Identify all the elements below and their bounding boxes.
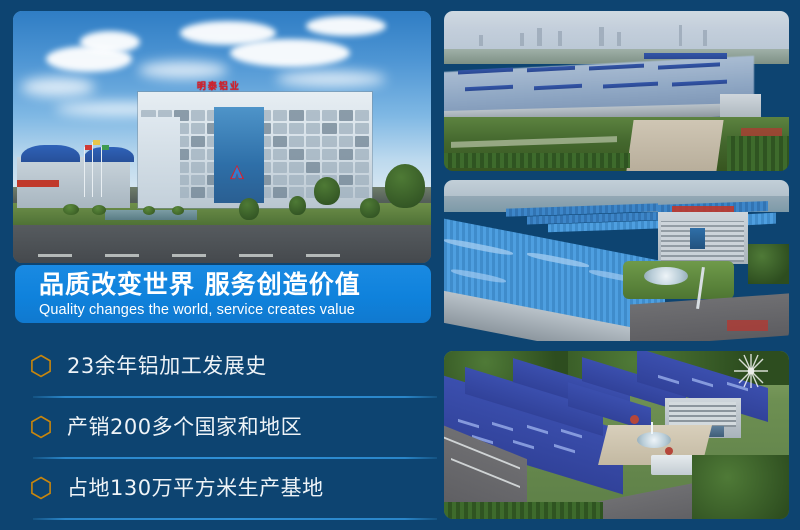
- cloud-shape: [230, 39, 350, 67]
- office-window-bands: [669, 402, 736, 427]
- feature-label: 23余年铝加工发展史: [67, 349, 267, 383]
- tree-row: [727, 136, 789, 171]
- flag-shape: [102, 145, 109, 150]
- tree-cluster: [748, 244, 789, 284]
- feature-item-1[interactable]: 23余年铝加工发展史: [15, 337, 431, 398]
- distant-skyline: [444, 27, 789, 46]
- aerial-factory-blue-roof-photo: [444, 180, 789, 341]
- tree-shape: [289, 196, 306, 215]
- shrub-shape: [172, 206, 184, 215]
- hexagon-icon: [28, 475, 54, 501]
- ornamental-tree: [665, 447, 673, 455]
- slogan-chinese: 品质改变世界 服务创造价值: [39, 270, 431, 300]
- feature-item-2[interactable]: 产销200多个国家和地区: [15, 398, 431, 459]
- cloud-shape: [21, 77, 95, 97]
- blue-roof-shape: [21, 145, 80, 163]
- hexagon-icon: [28, 353, 54, 379]
- road-marking: [105, 254, 139, 257]
- roof-blue-strip: [644, 53, 727, 59]
- feature-label: 占地130万平方米生产基地: [67, 471, 324, 505]
- feature-item-3[interactable]: 占地130万平方米生产基地: [15, 459, 431, 520]
- roof-sign-text: 明泰铝业: [197, 79, 241, 92]
- feature-divider: [33, 518, 437, 520]
- tree-row: [444, 153, 630, 167]
- feature-label: 产销200多个国家和地区: [67, 410, 302, 444]
- tree-row: [444, 502, 603, 519]
- road-marking: [306, 254, 340, 257]
- glass-atrium: [214, 107, 264, 203]
- left-column: 明泰铝业 品质改变世界 服务创造价值 Quality changes the w…: [13, 11, 431, 519]
- flag-pole: [92, 142, 93, 197]
- red-sign-band: [17, 180, 59, 188]
- company-a-logo-icon: [228, 164, 246, 180]
- page-root: 明泰铝业 品质改变世界 服务创造价值 Quality changes the w…: [0, 0, 800, 530]
- building-left-wing: [138, 117, 180, 208]
- shrub-shape: [143, 206, 155, 215]
- fountain-jet: [651, 422, 653, 434]
- flag-shape: [85, 145, 92, 150]
- road-strip: [13, 225, 431, 263]
- road-marking: [239, 254, 273, 257]
- cloud-shape: [80, 31, 140, 53]
- road-marking: [172, 254, 206, 257]
- aerial-factory-wide-photo: [444, 11, 789, 171]
- slogan-english: Quality changes the world, service creat…: [39, 300, 431, 320]
- tree-row: [692, 455, 789, 519]
- office-building-photo: 明泰铝业: [13, 11, 431, 263]
- tree-shape: [239, 198, 259, 220]
- fountain-shape: [644, 267, 688, 285]
- fountain-shape: [637, 432, 671, 448]
- roof-sign-band: [672, 206, 734, 212]
- feature-list: 23余年铝加工发展史 产销200多个国家和地区 占地130万平方米生产基地: [15, 337, 431, 520]
- cloud-shape: [306, 16, 386, 36]
- tree-shape: [385, 164, 425, 208]
- flag-pole: [101, 147, 102, 197]
- tree-shape: [314, 177, 340, 205]
- flag-shape: [93, 140, 100, 145]
- industrial-park-render: [444, 351, 789, 519]
- hexagon-icon: [28, 414, 54, 440]
- tree-shape: [360, 198, 380, 218]
- office-tower: [658, 212, 748, 264]
- flag-pole: [84, 147, 85, 197]
- parked-vehicles: [741, 128, 782, 136]
- slogan-banner: 品质改变世界 服务创造价值 Quality changes the world,…: [15, 265, 431, 323]
- sun-flare-icon: [734, 354, 768, 388]
- road-marking: [38, 254, 72, 257]
- parked-vehicles: [727, 320, 768, 331]
- yard-pavement: [627, 120, 724, 171]
- tower-glass-atrium: [690, 228, 704, 250]
